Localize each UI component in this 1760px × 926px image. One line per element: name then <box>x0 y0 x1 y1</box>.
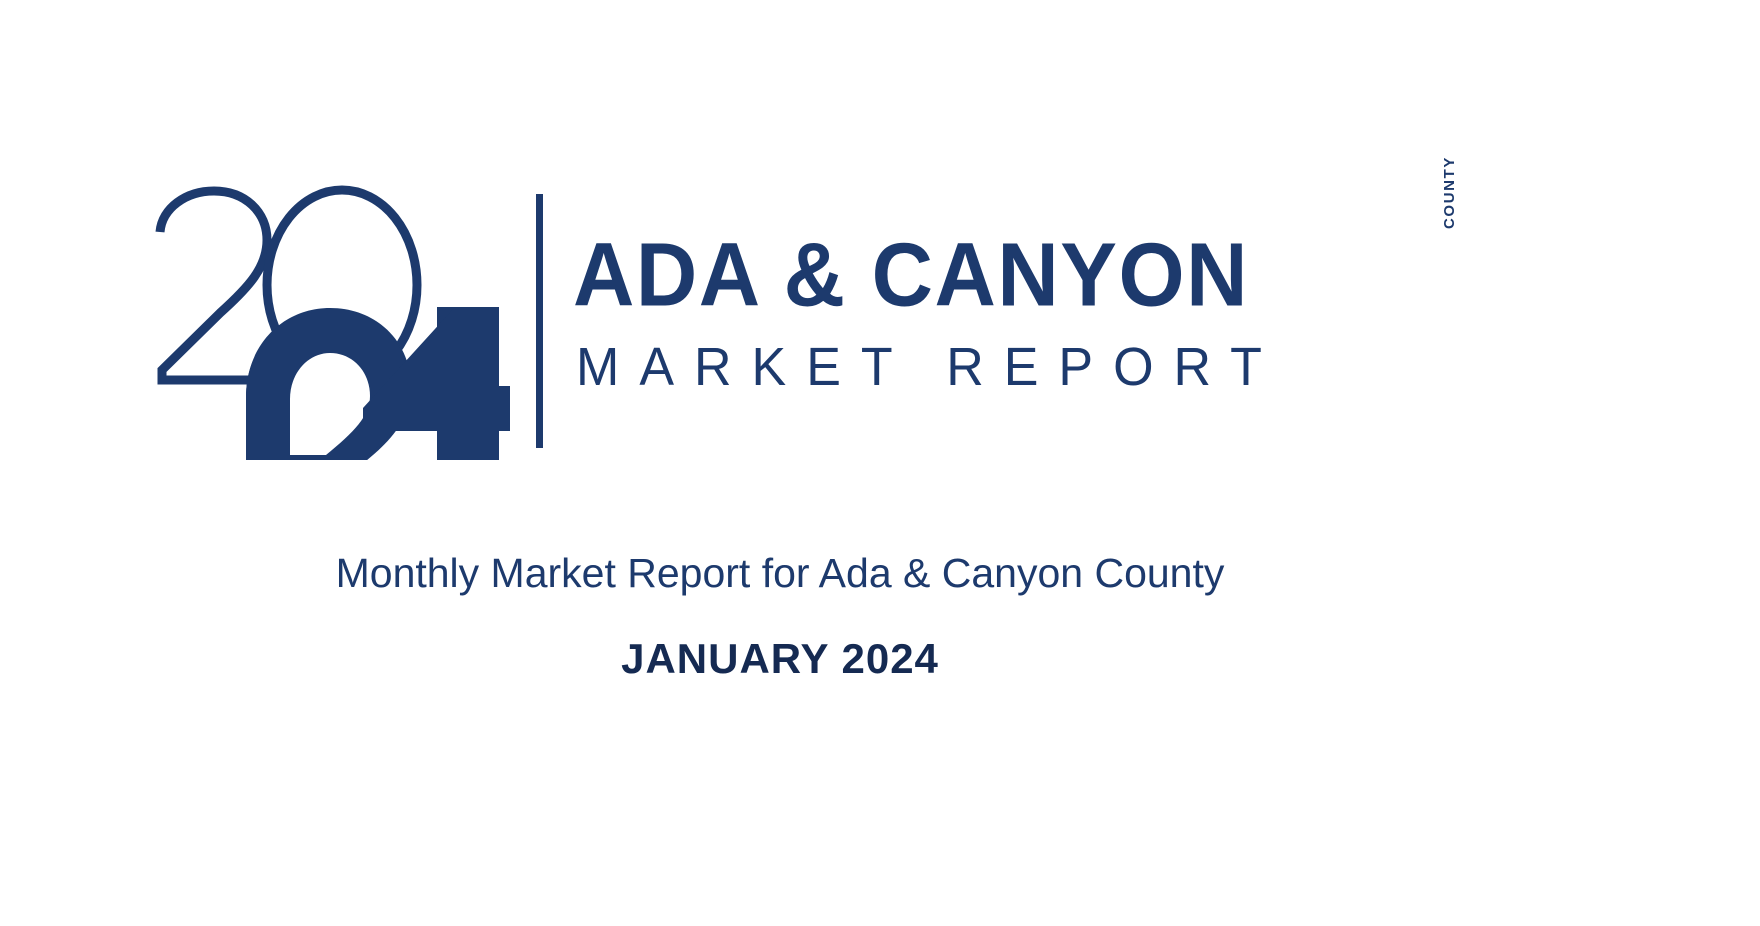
bold-digit-4-stem <box>437 307 499 460</box>
year-2024-logo-mark-overlay <box>150 185 530 460</box>
wordmark-secondary-text: MARKET REPORT <box>576 337 1282 397</box>
cover-subtitle-block: Monthly Market Report for Ada & Canyon C… <box>0 545 1560 685</box>
subtitle-description: Monthly Market Report for Ada & Canyon C… <box>0 545 1560 601</box>
report-cover-page: ADA & CANYON COUNTY MARKET REPORT Monthl… <box>0 0 1760 926</box>
wordmark-county-superscript: COUNTY <box>1441 156 1457 229</box>
wordmark-primary-text: ADA & CANYON <box>573 227 1249 325</box>
logo-divider-rule <box>536 194 543 448</box>
brand-logo-lockup: ADA & CANYON COUNTY MARKET REPORT <box>150 185 1570 460</box>
year-mark-overlay-svg <box>150 185 530 460</box>
brand-wordmark: ADA & CANYON COUNTY MARKET REPORT <box>573 185 1568 460</box>
report-period-heading: JANUARY 2024 <box>0 633 1560 685</box>
wordmark-primary-row: ADA & CANYON <box>573 227 1249 319</box>
